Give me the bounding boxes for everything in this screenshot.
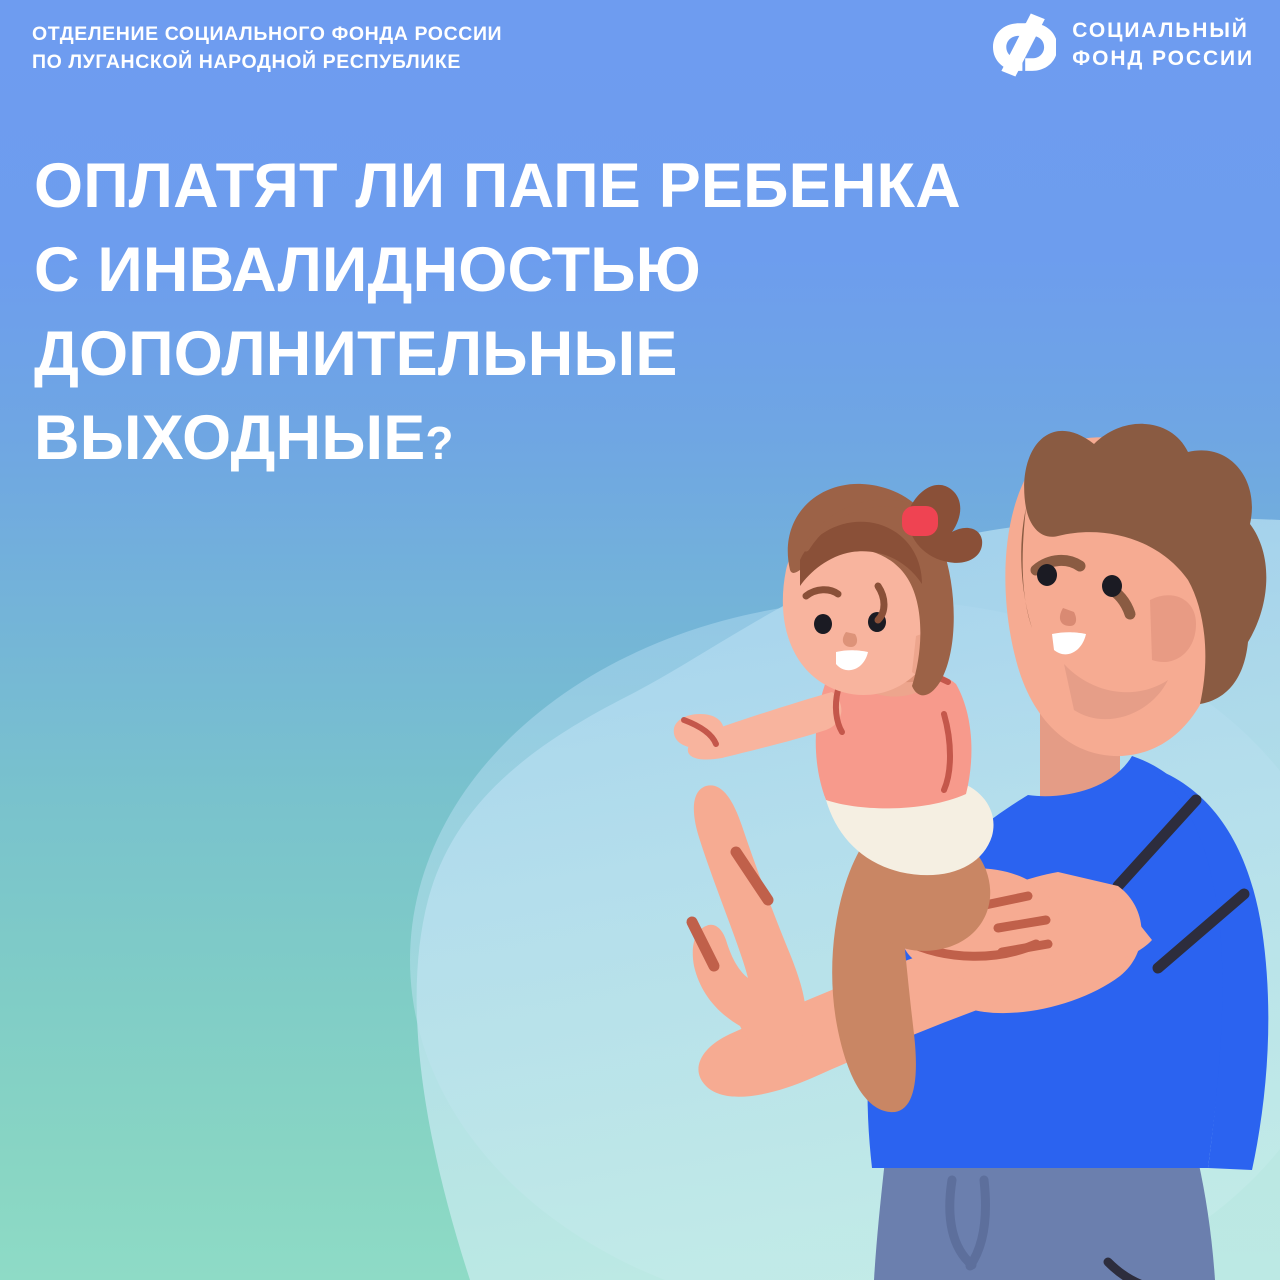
child-nose [843,632,857,647]
organization-name: ОТДЕЛЕНИЕ СОЦИАЛЬНОГО ФОНДА РОССИИ ПО ЛУ… [32,20,502,76]
title-question-mark: ? [425,417,453,469]
father-eye-left [1037,564,1057,586]
title-line-1: ОПЛАТЯТ ЛИ ПАПЕ РЕБЕНКА [34,144,1274,228]
org-name-line-2: ПО ЛУГАНСКОЙ НАРОДНОЙ РЕСПУБЛИКЕ [32,48,502,76]
brand-text-line-1: СОЦИАЛЬНЫЙ [1072,19,1248,42]
title-line-4: ВЫХОДНЫЕ? [34,396,1274,480]
brand-lockup: СОЦИАЛЬНЫЙ ФОНД РОССИИ [986,12,1254,78]
child-eye-left [814,614,832,634]
title-line-3: ДОПОЛНИТЕЛЬНЫЕ [34,312,1274,396]
poster-canvas: ОТДЕЛЕНИЕ СОЦИАЛЬНОГО ФОНДА РОССИИ ПО ЛУ… [0,0,1280,1280]
father-eye-right [1102,575,1122,597]
sfr-monogram-icon [986,12,1056,78]
poster-header: ОТДЕЛЕНИЕ СОЦИАЛЬНОГО ФОНДА РОССИИ ПО ЛУ… [0,0,1280,96]
brand-text: СОЦИАЛЬНЫЙ ФОНД РОССИИ [1072,17,1254,73]
poster-title: ОПЛАТЯТ ЛИ ПАПЕ РЕБЕНКА С ИНВАЛИДНОСТЬЮ … [34,144,1274,480]
brand-text-line-2: ФОНД РОССИИ [1072,47,1254,70]
father-shorts [874,1160,1215,1280]
title-line-2: С ИНВАЛИДНОСТЬЮ [34,228,1274,312]
org-name-line-1: ОТДЕЛЕНИЕ СОЦИАЛЬНОГО ФОНДА РОССИИ [32,23,502,45]
title-line-4-text: ВЫХОДНЫЕ [34,403,425,473]
child-hair-tie [902,506,938,536]
